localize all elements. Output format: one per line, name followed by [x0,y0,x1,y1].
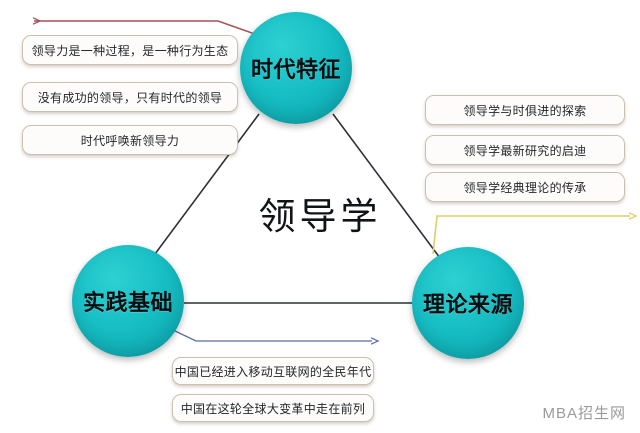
connector-top-right [333,114,440,258]
caption-box-left-3[interactable]: 时代呼唤新领导力 [22,125,238,155]
node-top-label: 时代特征 [251,52,341,84]
caption-box-right-1-text: 领导学与时俱进的探索 [463,102,586,119]
caption-box-right-3[interactable]: 领导学经典理论的传承 [425,172,625,202]
caption-box-left-1-text: 领导力是一种过程，是一种行为生态 [32,42,229,59]
caption-box-bottom-2[interactable]: 中国在这轮全球大变革中走在前列 [172,394,374,422]
caption-box-left-3-text: 时代呼唤新领导力 [81,132,179,149]
caption-box-left-2[interactable]: 没有成功的领导，只有时代的领导 [22,82,238,112]
caption-box-right-2[interactable]: 领导学最新研究的启迪 [425,135,625,165]
node-right-label: 理论来源 [423,287,513,319]
caption-box-left-2-text: 没有成功的领导，只有时代的领导 [38,89,223,106]
node-left-label: 实践基础 [83,285,173,317]
node-time-characteristics[interactable]: 时代特征 [240,12,352,124]
node-theory-source[interactable]: 理论来源 [412,247,524,359]
watermark: MBA招生网 [542,402,626,423]
caption-box-left-1[interactable]: 领导力是一种过程，是一种行为生态 [22,35,238,65]
caption-box-bottom-2-text: 中国在这轮全球大变革中走在前列 [181,400,366,417]
caption-box-bottom-1-text: 中国已经进入移动互联网的全民年代 [175,363,372,380]
caption-box-bottom-1[interactable]: 中国已经进入移动互联网的全民年代 [172,357,374,385]
arrow-blue [173,330,372,341]
diagram-canvas: 时代特征 实践基础 理论来源 领导学 领导力是一种过程，是一种行为生态 没有成功… [0,0,640,433]
caption-box-right-3-text: 领导学经典理论的传承 [463,179,586,196]
caption-box-right-2-text: 领导学最新研究的启迪 [463,142,586,159]
caption-box-right-1[interactable]: 领导学与时俱进的探索 [425,95,625,125]
node-practice-foundation[interactable]: 实践基础 [72,245,184,357]
